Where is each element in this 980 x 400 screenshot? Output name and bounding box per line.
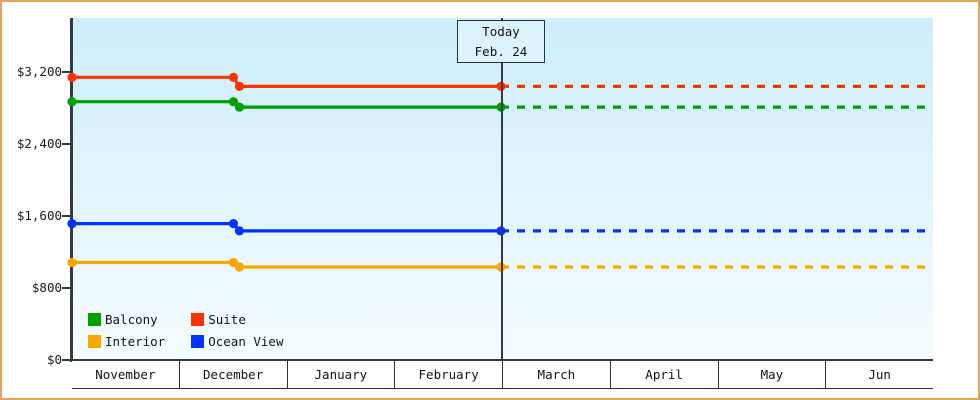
month-cell-march[interactable]: March: [503, 361, 611, 388]
today-callout: Today Feb. 24: [457, 20, 545, 63]
month-cell-january[interactable]: January: [288, 361, 396, 388]
y-tick-3200: [62, 71, 71, 73]
y-tick-1600: [62, 215, 71, 217]
legend: Balcony Suite Interior Ocean View: [88, 311, 283, 350]
legend-label: Ocean View: [208, 334, 283, 349]
y-axis-label: $2,400: [6, 136, 62, 151]
y-tick-2400: [62, 143, 71, 145]
month-cell-december[interactable]: December: [180, 361, 288, 388]
y-axis-label: $0: [6, 352, 62, 367]
y-axis-label: $1,600: [6, 208, 62, 223]
legend-item-interior[interactable]: Interior: [88, 333, 165, 350]
month-cell-jun[interactable]: Jun: [826, 361, 933, 388]
month-cell-may[interactable]: May: [719, 361, 827, 388]
today-callout-line2: Feb. 24: [458, 42, 544, 62]
y-axis-label: $3,200: [6, 64, 62, 79]
month-axis: November December January February March…: [72, 361, 933, 389]
y-axis-labels: $3,200 $2,400 $1,600 $800 $0: [2, 2, 62, 400]
legend-swatch-icon: [191, 313, 204, 326]
y-axis-label: $800: [6, 280, 62, 295]
plot-area: [72, 18, 933, 360]
legend-swatch-icon: [88, 313, 101, 326]
month-cell-november[interactable]: November: [72, 361, 180, 388]
legend-item-balcony[interactable]: Balcony: [88, 311, 165, 328]
month-cell-february[interactable]: February: [395, 361, 503, 388]
month-cell-april[interactable]: April: [611, 361, 719, 388]
y-axis-line: [70, 18, 73, 362]
today-callout-line1: Today: [458, 22, 544, 42]
legend-label: Interior: [105, 334, 165, 349]
legend-swatch-icon: [191, 335, 204, 348]
legend-swatch-icon: [88, 335, 101, 348]
legend-label: Balcony: [105, 312, 158, 327]
legend-item-suite[interactable]: Suite: [191, 311, 283, 328]
y-tick-0: [62, 359, 71, 361]
y-tick-800: [62, 287, 71, 289]
legend-item-ocean-view[interactable]: Ocean View: [191, 333, 283, 350]
chart-screenshot: $3,200 $2,400 $1,600 $800 $0 Today Feb. …: [0, 0, 980, 400]
today-marker-line: [501, 18, 503, 360]
legend-label: Suite: [208, 312, 246, 327]
